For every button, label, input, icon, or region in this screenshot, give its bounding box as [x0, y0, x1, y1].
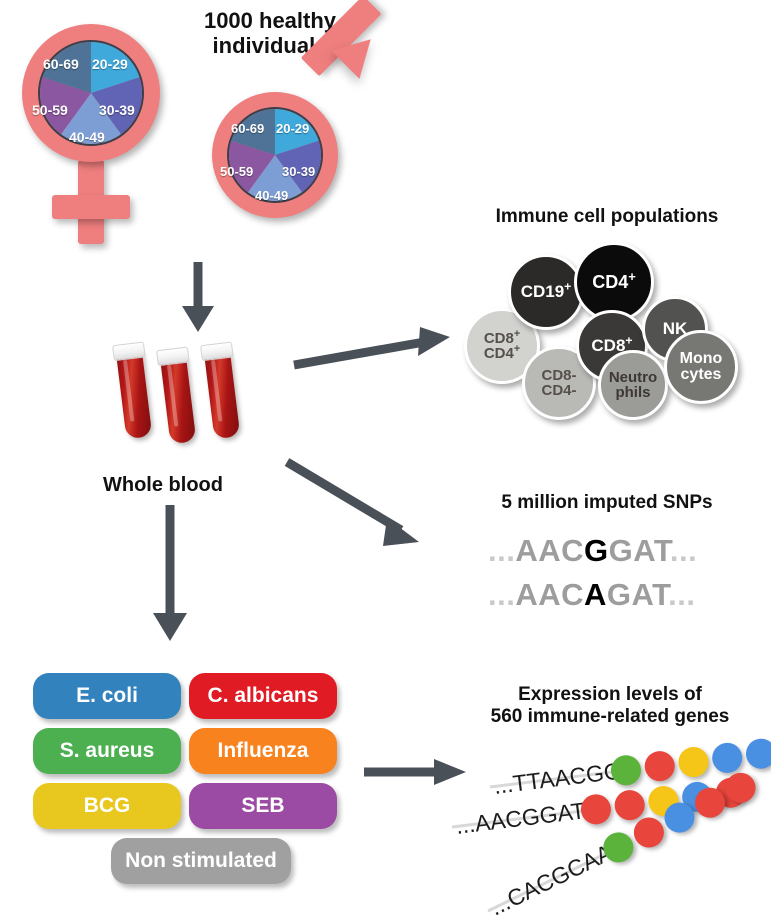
immune-cell-label: CD8-CD4-	[541, 368, 576, 399]
stimulus-e-coli[interactable]: E. coli	[33, 673, 181, 719]
stimulus-s-aureus[interactable]: S. aureus	[33, 728, 181, 774]
whole-blood-label: Whole blood	[78, 474, 248, 497]
stimulus-label: SEB	[241, 794, 284, 818]
pie-label-20-29: 20-29	[276, 121, 309, 136]
stimulus-label: Influenza	[217, 739, 308, 763]
immune-cell-label: Monocytes	[680, 351, 723, 384]
figure-canvas: 1000 healthy individuals 60-69 20-29 30-…	[0, 0, 771, 922]
tube-body	[160, 356, 196, 445]
stimulus-seb[interactable]: SEB	[189, 783, 337, 829]
female-cross	[52, 195, 130, 219]
arrow-cohort-to-blood	[178, 262, 218, 334]
snp-suffix: ...	[670, 533, 697, 568]
expression-bead	[711, 741, 744, 774]
pie-label-30-39: 30-39	[282, 164, 315, 179]
pie-label-60-69: 60-69	[43, 56, 79, 72]
immune-cell-cd19pos: CD19+	[508, 254, 584, 330]
stimulus-label: E. coli	[76, 684, 138, 708]
pie-label-60-69: 60-69	[231, 121, 264, 136]
stimuli-panel: E. coli C. albicans S. aureus Influenza …	[33, 673, 343, 893]
snp-sequence-bottom: ...AACAGAT...	[488, 577, 695, 613]
stimulus-label: S. aureus	[60, 739, 155, 763]
strand-sequence: ...AACGGAT	[454, 797, 586, 840]
expression-title-line1: Expression levels of	[454, 684, 766, 706]
snp-suffix: ...	[668, 577, 695, 612]
snp-variant: A	[584, 577, 607, 612]
pie-label-30-39: 30-39	[99, 102, 135, 118]
arrow-blood-to-stimuli	[148, 505, 192, 645]
arrow-blood-to-snps	[283, 456, 443, 556]
immune-cell-cluster: CD8+CD4+ CD19+ CD4+ CD8-CD4- CD8+ NK Neu…	[452, 238, 762, 418]
immune-cell-label: Neutrophils	[609, 370, 657, 401]
pie-label-40-49: 40-49	[255, 188, 288, 203]
snp-before: AAC	[515, 577, 584, 612]
snps-title: 5 million imputed SNPs	[452, 492, 762, 514]
pie-label-20-29: 20-29	[92, 56, 128, 72]
stimulus-c-albicans[interactable]: C. albicans	[189, 673, 337, 719]
expression-title-line2: 560 immune-related genes	[454, 706, 766, 728]
snp-before: AAC	[515, 533, 584, 568]
snp-sequence-top: ...AACGGAT...	[488, 533, 697, 569]
immune-cell-neutrophils: Neutrophils	[598, 350, 668, 420]
expression-bead	[613, 788, 646, 821]
stimulus-label: Non stimulated	[125, 849, 277, 873]
rna-strands: ...TTAACGG ...AACGGAT ...CACGCAA	[452, 744, 771, 914]
pie-label-40-49: 40-49	[69, 129, 105, 145]
snp-after: GAT	[607, 577, 668, 612]
expression-bead	[643, 749, 676, 782]
expression-bead	[677, 745, 710, 778]
strand-sequence: ...CACGCAA	[486, 839, 617, 922]
expression-bead	[721, 768, 761, 808]
snp-prefix: ...	[488, 577, 515, 612]
stimulus-bcg[interactable]: BCG	[33, 783, 181, 829]
snp-prefix: ...	[488, 533, 515, 568]
expression-bead	[744, 737, 771, 770]
tube-body	[204, 351, 240, 440]
stimulus-non-stimulated[interactable]: Non stimulated	[111, 838, 291, 884]
expression-title: Expression levels of 560 immune-related …	[454, 684, 766, 728]
immune-cell-label: CD8+CD4+	[484, 331, 520, 362]
immune-title: Immune cell populations	[452, 206, 762, 228]
pie-label-50-59: 50-59	[220, 164, 253, 179]
snp-variant: G	[584, 533, 609, 568]
immune-cell-label: CD4+	[592, 273, 636, 291]
immune-cell-label: CD19+	[521, 283, 572, 300]
arrow-blood-to-immune	[290, 325, 460, 375]
immune-cell-monocytes: Monocytes	[664, 330, 738, 404]
stimulus-influenza[interactable]: Influenza	[189, 728, 337, 774]
stimulus-label: BCG	[84, 794, 131, 818]
stimulus-label: C. albicans	[208, 684, 319, 708]
tube-body	[116, 351, 152, 440]
snp-after: GAT	[609, 533, 670, 568]
pie-label-50-59: 50-59	[32, 102, 68, 118]
